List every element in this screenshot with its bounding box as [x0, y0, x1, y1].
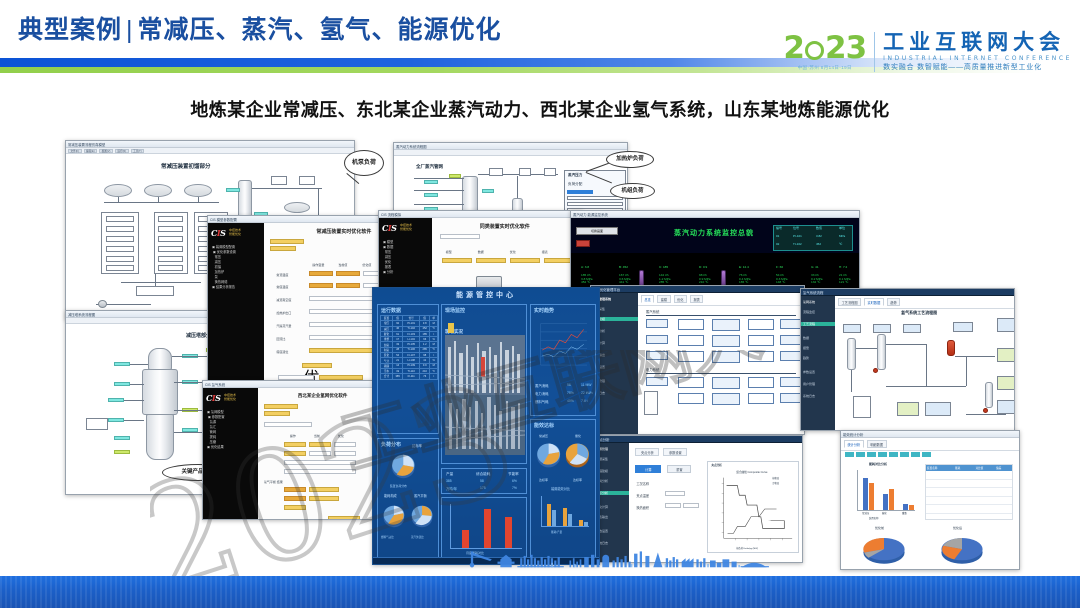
column-top: [148, 348, 172, 370]
panel-hydrogen-pid[interactable]: 氢气系统流程 氢网系统 流程监控 工艺流程 数据 报警 趋势 参数设置 用户管理…: [800, 288, 1015, 431]
trend-svg: [531, 317, 595, 375]
panel-content: 总览 建模 优化 报表 蒸汽系统: [638, 293, 804, 435]
row-value[interactable]: [309, 442, 331, 447]
filter-chip-row[interactable]: [845, 452, 931, 457]
diagram-title: 氢气系统工艺流程图: [901, 310, 937, 316]
conference-logo: 223 中国·苏州 8月14日-19日 工业互联网大会 INDUSTRIAL I…: [783, 28, 1072, 76]
chart-legend-hot: 热物流: [772, 476, 779, 480]
filter-chip[interactable]: [867, 452, 876, 457]
page-title-main: 典型案例: [18, 16, 122, 44]
row-value[interactable]: [284, 496, 306, 501]
logo-zero-ring: [805, 41, 824, 60]
row-value[interactable]: [284, 469, 356, 474]
dash-pie-pair-svg: [531, 432, 595, 476]
logo-english-name: INDUSTRIAL INTERNET CONFERENCE: [883, 54, 1072, 63]
dash-bar-3: [505, 517, 512, 548]
bar-after-1: [869, 483, 874, 510]
cis-nav-tree[interactable]: ▣ 氢网模型 ▣ 参数配置 氢源 氢汇 管网 提纯 压缩▣ 优化结果: [207, 410, 225, 450]
filter-chip[interactable]: [856, 452, 865, 457]
dash-minibar: [579, 520, 583, 526]
pipe-drop-1: [118, 197, 119, 202]
dash-table: 装置值位号值单 常压92PI-1013.8M 减压46TI-102452℃ 催化…: [380, 315, 438, 380]
scada-banner: 蒸汽动力系统监控总貌: [674, 228, 754, 238]
panel-energy-flow-diagram[interactable]: 能源优化管理平台 能源管理系统 数据采集 流程建模 能耗分析 优化计算 报表输出…: [590, 285, 805, 435]
panel-titlebar: CIS 模型参数配置: [208, 216, 396, 223]
panel-tabs[interactable]: 统计分析 明细数据: [841, 438, 1019, 451]
logo-year: 223: [783, 33, 866, 63]
col-name: 装置名称: [926, 465, 954, 471]
plant-photo-svg: [445, 335, 525, 455]
panel-cis-optimizer-c[interactable]: CIS 氢气系统 CIS 中控技术智能优化 ▣ 氢网模型 ▣ 参数配置 氢源 氢…: [202, 380, 387, 520]
flow-block[interactable]: [748, 393, 774, 404]
flow-block[interactable]: [712, 377, 740, 389]
pipe-drop-2: [158, 197, 159, 202]
flow-block[interactable]: [678, 351, 704, 362]
switch-view-button[interactable]: 切换画面: [576, 227, 618, 235]
row-value[interactable]: [284, 487, 306, 492]
y-axis: [541, 496, 542, 526]
menu-edit[interactable]: 编辑(E): [84, 149, 98, 153]
row-value[interactable]: [309, 451, 331, 456]
cis-nav-tree[interactable]: ▣ 模型▣ 数据 常压 减压 优化 报表▣ 分析: [383, 240, 393, 275]
legend-swatch: [111, 494, 137, 495]
tab-realtime-data[interactable]: 实时数据: [864, 298, 884, 306]
dash-minibar: [552, 510, 556, 526]
dashboard-canvas: 能源管控中心 运行数据 装置值位号值单 常压92PI-1013.8M 减压46T…: [373, 288, 599, 564]
cis-heading: 西北某企业氢网优化软件: [298, 393, 348, 399]
flow-block[interactable]: [748, 377, 774, 388]
tab-overview[interactable]: 总览: [641, 295, 654, 303]
bar-after-2: [889, 489, 894, 510]
flow-block[interactable]: [780, 351, 802, 361]
dash-card-kpi: 产量 综合能耗 节能率 385 58 6% 万吨/年 175 7%: [441, 468, 527, 494]
row-value[interactable]: [309, 487, 339, 492]
panel-tabs[interactable]: 总览 建模 优化 报表: [638, 293, 804, 306]
panel-cis-optimizer-a[interactable]: CIS 模型参数配置 CIS 中控技术智能优化 ▣ 装置模型配置 ▣ 优化参数设…: [207, 215, 397, 385]
column-bottom: [146, 414, 174, 460]
y-axis: [450, 504, 451, 548]
reset-button[interactable]: 重置: [667, 465, 691, 473]
tag-box: [843, 324, 861, 333]
flow-block[interactable]: [780, 319, 802, 329]
pipe-drop-3: [198, 197, 199, 202]
filter-chip[interactable]: [889, 452, 898, 457]
flow-block[interactable]: [678, 335, 704, 346]
area-input[interactable]: [665, 503, 681, 508]
tab-trend[interactable]: 趋势: [887, 298, 900, 306]
x-axis-label: 装置名称: [869, 516, 879, 520]
flow-block[interactable]: [678, 377, 704, 388]
valve-icon: [983, 408, 988, 413]
pipe-header: [104, 202, 219, 203]
menu-view[interactable]: 视图(V): [99, 149, 113, 153]
row-value[interactable]: [334, 442, 356, 447]
panel-canvas: CIS 中控技术智能优化 ▣ 氢网模型 ▣ 参数配置 氢源 氢汇 管网 提纯 压…: [203, 388, 386, 520]
dash-bar-1: [462, 530, 469, 548]
col-energy: 能耗: [954, 465, 975, 471]
bar-before-3: [903, 504, 908, 510]
absorber-column: [847, 338, 856, 370]
row-value[interactable]: [334, 451, 356, 456]
filter-chip[interactable]: [878, 452, 887, 457]
panel-titlebar: 能源优化管理平台: [591, 286, 804, 293]
statistics-table: 装置名称 能耗 对比值 偏差: [925, 464, 1013, 520]
tag-box: [873, 324, 891, 333]
dash-card-title: 现场监控: [445, 307, 465, 314]
screenshot-collage: 常减压装置流程仿真模型 文件(F) 编辑(E) 视图(V) 运行(R) 工具(T…: [0, 135, 1080, 570]
flow-block[interactable]: [780, 377, 802, 387]
tab-statistics[interactable]: 统计分析: [844, 440, 864, 448]
pinch-dt-input[interactable]: [665, 491, 685, 496]
separator-vessel: [136, 286, 174, 296]
optimize-button[interactable]: [328, 516, 360, 520]
logo-chinese-name: 工业互联网大会: [883, 32, 1072, 54]
main-heading: 地炼某企业常减压、东北某企业蒸汽动力、西北某企业氢气系统，山东某地炼能源优化: [0, 96, 1080, 122]
tag-box: [897, 402, 919, 416]
cis-logo-subtitle: 中控技术智能优化: [229, 228, 241, 236]
col-delta: 偏差: [995, 465, 1012, 471]
cis-logo: CIS: [382, 223, 396, 233]
logo-date: 中国·苏州 8月14日-19日: [798, 65, 852, 71]
panel-titlebar: 氢气系统流程: [801, 289, 1014, 296]
tag-box: [903, 324, 921, 333]
valve-icon: [721, 270, 726, 286]
callout-unit-load: 机组负荷: [610, 183, 655, 199]
panel-pinch-analysis[interactable]: 夹点分析 能源管理 数据采集 流程建模 能耗分析 夹点分析 优化计算 报表输出 …: [593, 435, 803, 563]
row-value[interactable]: [476, 258, 506, 263]
field-extra[interactable]: [278, 375, 314, 380]
row-value[interactable]: [284, 505, 306, 510]
table-row: [926, 480, 1012, 489]
pie-title: 优化前: [875, 526, 884, 530]
row-value[interactable]: [336, 283, 360, 288]
cis-logo-subtitle: 中控技术智能优化: [224, 393, 236, 401]
area-input-2[interactable]: [683, 503, 699, 508]
flow-block[interactable]: [646, 351, 668, 360]
logo-text-block: 工业互联网大会 INDUSTRIAL INTERNET CONFERENCE 数…: [883, 32, 1072, 73]
row-value[interactable]: [309, 271, 333, 276]
dash-card-title: 负荷分布: [381, 441, 401, 448]
tab-modeling[interactable]: 建模: [657, 295, 670, 303]
section-label-a: 蒸汽系统: [646, 309, 660, 314]
tab-active[interactable]: [264, 404, 298, 409]
panel-titlebar: CIS 流程模拟: [379, 211, 582, 218]
cis-content: 西北某企业氢网优化软件 操作 当前 优化 氢气平衡 结果: [258, 388, 386, 520]
row-value[interactable]: [284, 442, 306, 447]
table-header-row: 装置名称 能耗 对比值 偏差: [926, 465, 1012, 471]
panel-canvas: 能源管理系统 数据采集 流程建模 能耗分析 优化计算 报表输出 参数设置 用户管…: [591, 293, 804, 435]
calculate-button[interactable]: 计算: [635, 465, 661, 473]
flow-block[interactable]: [780, 335, 802, 345]
page-title: 典型案例|常减压、蒸汽、氢气、能源优化: [18, 10, 502, 46]
panel-titlebar: 蒸汽动力 能源监控系统: [571, 211, 859, 218]
reactor-icon: [947, 340, 955, 356]
cis-logo-subtitle: 中控技术智能优化: [400, 223, 412, 231]
tab-report[interactable]: 报表: [690, 295, 703, 303]
panel-titlebar: 夹点分析: [594, 436, 802, 443]
optimize-button[interactable]: 优化计算: [302, 363, 332, 368]
settings-button[interactable]: 参数设置: [663, 448, 687, 456]
section-label-b: 电力系统: [646, 367, 660, 372]
valve-icon: [873, 368, 878, 373]
tab-secondary[interactable]: [264, 411, 290, 416]
flow-block[interactable]: [712, 351, 740, 363]
menu-file[interactable]: 文件(F): [68, 149, 82, 153]
column-mid: [142, 369, 178, 415]
chart-title: 能耗对比分析: [869, 462, 887, 466]
row-value[interactable]: [284, 451, 306, 456]
page-title-sub: 常减压、蒸汽、氢气、能源优化: [138, 16, 502, 44]
dash-minibar: [584, 522, 588, 526]
flow-block[interactable]: [712, 319, 740, 331]
cis-sidebar[interactable]: CIS 中控技术智能优化 ▣ 氢网模型 ▣ 参数配置 氢源 氢汇 管网 提纯 压…: [203, 388, 258, 520]
filter-chip[interactable]: [900, 452, 909, 457]
flow-block[interactable]: [712, 335, 740, 347]
row-value[interactable]: [442, 258, 472, 263]
panel-canvas: 氢网系统 流程监控 工艺流程 数据 报警 趋势 参数设置 用户管理 系统日志 工…: [801, 296, 1014, 431]
logo-slogan: 数实融合 数智赋能——高质量推进新型工业化: [883, 63, 1072, 73]
table-row: [926, 505, 1012, 514]
page-title-divider: |: [122, 16, 138, 44]
flow-block[interactable]: [748, 335, 774, 346]
dashboard-title: 能源管控中心: [373, 290, 599, 300]
flow-block[interactable]: [748, 351, 774, 362]
pie-title: 优化后: [953, 526, 962, 530]
stripper-column: [877, 334, 886, 370]
flow-block[interactable]: [780, 393, 802, 403]
flow-block[interactable]: [646, 335, 668, 344]
filter-chip[interactable]: [922, 452, 931, 457]
drum-3: [184, 184, 212, 197]
row-value[interactable]: [309, 283, 333, 288]
row-value[interactable]: [309, 496, 339, 501]
dash-minibar: [568, 514, 572, 526]
tab-active[interactable]: [270, 239, 304, 244]
menu-tools[interactable]: 工具(T): [131, 149, 145, 153]
row-value[interactable]: [510, 258, 540, 263]
filter-chip[interactable]: [911, 452, 920, 457]
tag-box: [997, 318, 1015, 332]
row-value[interactable]: [284, 460, 356, 465]
valve-icon: [639, 270, 644, 286]
callout-furnace-load: 加热炉负荷: [606, 151, 654, 168]
panel-content: 夹点分析 参数设置 计算 重置 工况名称 夹点温差 换热面积 夹点分析 组合曲线…: [629, 443, 802, 563]
panel-titlebar: 蒸汽动力系统流程图: [394, 143, 627, 150]
tag-box: [997, 348, 1015, 362]
psa-column: [985, 382, 993, 408]
panel-titlebar: CIS 氢气系统: [203, 381, 386, 388]
dash-card-video: 现场监控: [441, 304, 527, 464]
bar-after-3: [909, 505, 914, 510]
dash-pie-top-svg: [378, 451, 438, 481]
legend-box: [644, 391, 658, 415]
diagram-title: 常减压装置初馏部分: [161, 162, 211, 170]
cis-logo: CIS: [206, 393, 220, 403]
panel-canvas: 能源管理 数据采集 流程建模 能耗分析 夹点分析 优化计算 报表输出 参数设置 …: [594, 443, 802, 563]
plant-photo: [445, 335, 525, 455]
composite-curve-chart: 夹点分析 组合曲线 Composite Curve: [707, 461, 799, 553]
drum-1: [104, 184, 132, 197]
menu-run[interactable]: 运行(R): [115, 149, 129, 153]
tag-box: [925, 402, 951, 416]
panel-content: 工艺流程图 实时数据 趋势 氢气系统工艺流程图: [835, 296, 1014, 431]
cis-logo: CIS: [211, 228, 225, 238]
dash-card-title: 能效达标: [534, 422, 554, 429]
diagram-title: 全厂蒸汽管网: [416, 164, 443, 170]
row-value[interactable]: [336, 271, 360, 276]
dash-card-pies: 能效达标 常减压 催化 达标率 达标率 装置能效对比: [530, 419, 596, 559]
dash-card-left-pies: 负荷分布 达标率 装置负荷分布 能耗构成 蒸汽平衡: [377, 438, 439, 559]
tab-secondary[interactable]: [270, 246, 296, 251]
flow-block[interactable]: [678, 319, 704, 330]
panel-sidebar-nav[interactable]: 氢网系统 流程监控 工艺流程 数据 报警 趋势 参数设置 用户管理 系统日志: [801, 296, 835, 431]
alarm-button[interactable]: [576, 240, 590, 247]
bar-before-2: [883, 494, 888, 510]
footer-decoration: [0, 548, 1080, 608]
table-row: [926, 488, 1012, 497]
pinch-analysis-button[interactable]: 夹点分析: [635, 448, 659, 456]
panel-tabs[interactable]: 工艺流程图 实时数据 趋势: [835, 296, 1014, 309]
dash-bar-2: [484, 509, 491, 548]
dash-card-trend: 实时趋势 蒸汽消耗 56 11 MW 电力消耗 78% 22 kWh: [530, 304, 596, 416]
dash-card-title: 实时趋势: [534, 307, 554, 314]
legend-box: [853, 396, 871, 418]
tag-box: [997, 376, 1015, 390]
flow-block[interactable]: [646, 319, 668, 328]
drum-2: [144, 184, 172, 197]
cis-heading: 同类装置实时优化软件: [480, 223, 530, 230]
footer-wave-band: [0, 576, 1080, 608]
filter-chip[interactable]: [845, 452, 854, 457]
panel-blue-dashboard[interactable]: 能源管控中心 运行数据 装置值位号值单 常压92PI-1013.8M 减压46T…: [372, 287, 600, 565]
col-compare: 对比值: [975, 465, 996, 471]
table-row: [926, 471, 1012, 480]
tab-detail-data[interactable]: 明细数据: [867, 440, 887, 448]
legend-label: 当前值: [143, 494, 160, 495]
logo-separator: [874, 32, 875, 72]
dash-minibar: [563, 508, 567, 526]
bar-before-1: [863, 478, 868, 510]
x-tick: 催化: [882, 511, 887, 515]
tag-value: [226, 188, 240, 192]
field-extra[interactable]: [319, 375, 363, 380]
tag-box: [997, 400, 1015, 414]
cis-nav-tree[interactable]: ▣ 装置模型配置 ▣ 优化参数设置 常压 减压 初馏 加热炉 泵 换热网络 ▣ …: [212, 245, 236, 290]
flow-block[interactable]: [712, 393, 740, 405]
callout-pump-load: 机泵负荷: [344, 150, 384, 176]
dash-card-title: 运行数据: [381, 307, 401, 314]
x-tick: 重整: [902, 511, 907, 515]
cis-heading: 常减压装置实时优化软件: [316, 228, 371, 235]
cis-sidebar[interactable]: CIS 中控技术智能优化 ▣ 装置模型配置 ▣ 优化参数设置 常压 减压 初馏 …: [208, 223, 264, 385]
energy-bar-chart: 能耗对比分析 常减压 催化 重整 装置名称: [847, 462, 917, 520]
chart-legend-cold: 冷物流: [772, 481, 779, 485]
flow-block[interactable]: [748, 319, 774, 330]
panel-titlebar: 常减压装置流程仿真模型: [66, 141, 354, 148]
composite-curve-svg: [708, 462, 798, 552]
flow-block[interactable]: [646, 377, 668, 386]
tab-optimize[interactable]: 优化: [674, 295, 687, 303]
x-tick: 常减压: [862, 511, 869, 515]
status-indicator: [448, 323, 454, 333]
search-input[interactable]: [264, 422, 312, 427]
table-row: [926, 497, 1012, 506]
flow-block[interactable]: [678, 393, 704, 404]
logo-year-block: 223 中国·苏州 8月14日-19日: [783, 33, 866, 71]
feed-heater: [86, 418, 108, 430]
panel-titlebar: 能效统计分析: [841, 431, 1019, 438]
pump-icon: [98, 300, 107, 308]
dash-card-data: 运行数据 装置值位号值单 常压92PI-1013.8M 减压46TI-10245…: [377, 304, 439, 434]
search-input[interactable]: [440, 234, 480, 239]
x-axis: [541, 526, 589, 527]
y-axis: [857, 470, 858, 510]
dash-pie-bottom-svg: [378, 501, 438, 531]
tab-process-diagram[interactable]: 工艺流程图: [838, 298, 861, 306]
panel-canvas: CIS 中控技术智能优化 ▣ 装置模型配置 ▣ 优化参数设置 常压 减压 初馏 …: [208, 223, 396, 385]
dash-minibar: [547, 504, 551, 526]
tag-box: [953, 322, 973, 332]
